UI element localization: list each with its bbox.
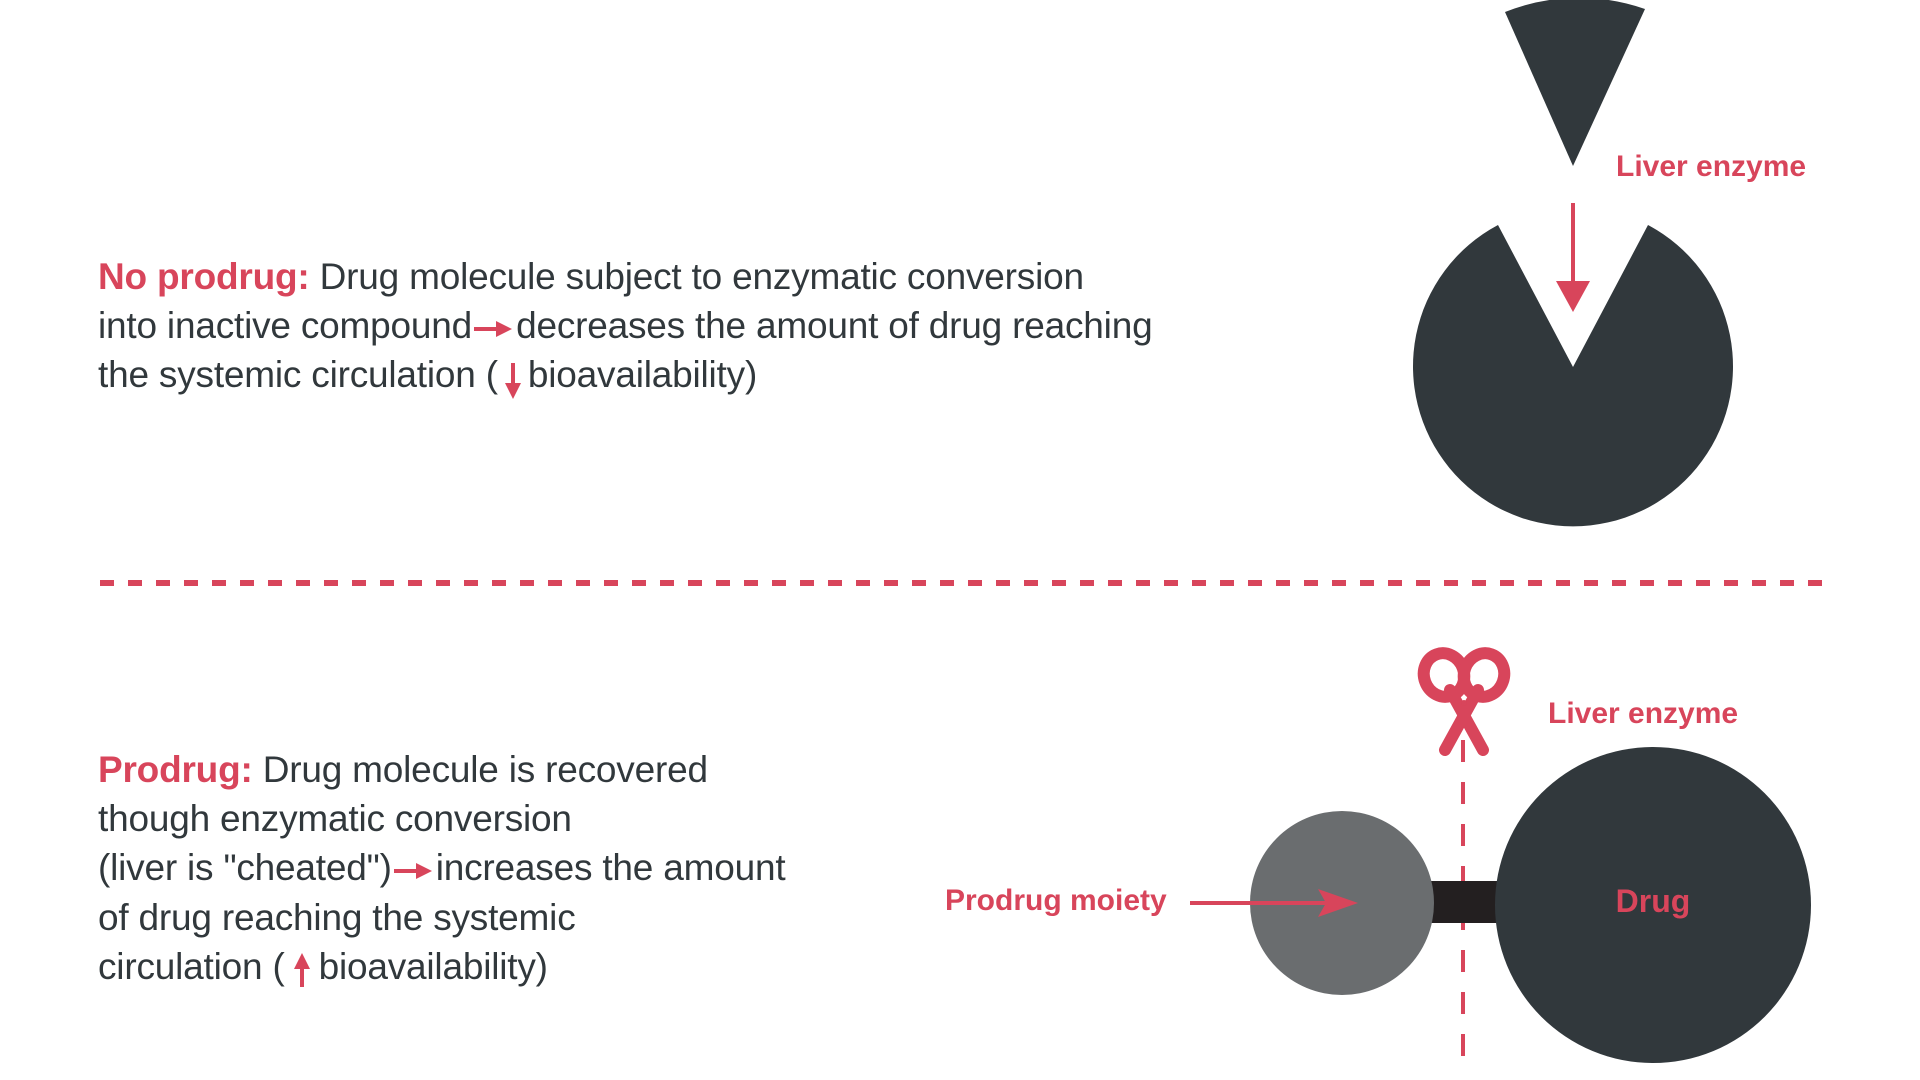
pacman-circle-shape bbox=[1413, 225, 1733, 526]
text-run: of drug reaching the systemic bbox=[98, 897, 576, 938]
liver-enzyme-label-top: Liver enzyme bbox=[1616, 150, 1806, 184]
text-run: bioavailability) bbox=[528, 354, 757, 395]
connector-bar bbox=[1428, 881, 1506, 923]
text-line: Prodrug: Drug molecule is recovered bbox=[98, 745, 998, 794]
text-line: though enzymatic conversion bbox=[98, 794, 998, 843]
prodrug-moiety-label: Prodrug moiety bbox=[945, 884, 1167, 918]
scissors-icon bbox=[1418, 647, 1511, 750]
text-run: into inactive compound bbox=[98, 305, 472, 346]
arrow-right-icon bbox=[474, 318, 514, 340]
text-line: No prodrug: Drug molecule subject to enz… bbox=[98, 252, 1398, 301]
arrow-up-icon bbox=[291, 953, 313, 987]
drug-label: Drug bbox=[1553, 883, 1753, 920]
liver-enzyme-label-bottom: Liver enzyme bbox=[1548, 697, 1738, 731]
text-line: circulation (bioavailability) bbox=[98, 942, 998, 991]
arrow-right-icon bbox=[394, 860, 434, 882]
detached-wedge-shape bbox=[1505, 0, 1645, 166]
text-run: though enzymatic conversion bbox=[98, 798, 572, 839]
text-line: the systemic circulation (bioavailabilit… bbox=[98, 350, 1398, 399]
prodrug-lead: Prodrug: bbox=[98, 749, 253, 790]
text-run: Drug molecule subject to enzymatic conve… bbox=[310, 256, 1084, 297]
prodrug-description: Prodrug: Drug molecule is recovered thou… bbox=[98, 745, 998, 991]
text-line: into inactive compounddecreases the amou… bbox=[98, 301, 1398, 350]
liver-enzyme-arrow-top bbox=[1556, 203, 1590, 312]
text-run: (liver is "cheated") bbox=[98, 847, 392, 888]
text-run: Drug molecule is recovered bbox=[253, 749, 708, 790]
no-prodrug-description: No prodrug: Drug molecule subject to enz… bbox=[98, 252, 1398, 400]
text-run: circulation ( bbox=[98, 946, 285, 987]
prodrug-moiety-circle bbox=[1250, 811, 1434, 995]
text-line: of drug reaching the systemic bbox=[98, 893, 998, 942]
arrow-down-icon bbox=[502, 363, 524, 397]
prodrug-moiety-pointer-arrow bbox=[1190, 889, 1358, 917]
text-run: bioavailability) bbox=[319, 946, 548, 987]
text-run: increases the amount bbox=[436, 847, 786, 888]
no-prodrug-lead: No prodrug: bbox=[98, 256, 310, 297]
text-run: decreases the amount of drug reaching bbox=[516, 305, 1152, 346]
diagram-canvas: No prodrug: Drug molecule subject to enz… bbox=[0, 0, 1920, 1080]
text-run: the systemic circulation ( bbox=[98, 354, 498, 395]
text-line: (liver is "cheated")increases the amount bbox=[98, 843, 998, 892]
panel-divider bbox=[100, 580, 1832, 586]
